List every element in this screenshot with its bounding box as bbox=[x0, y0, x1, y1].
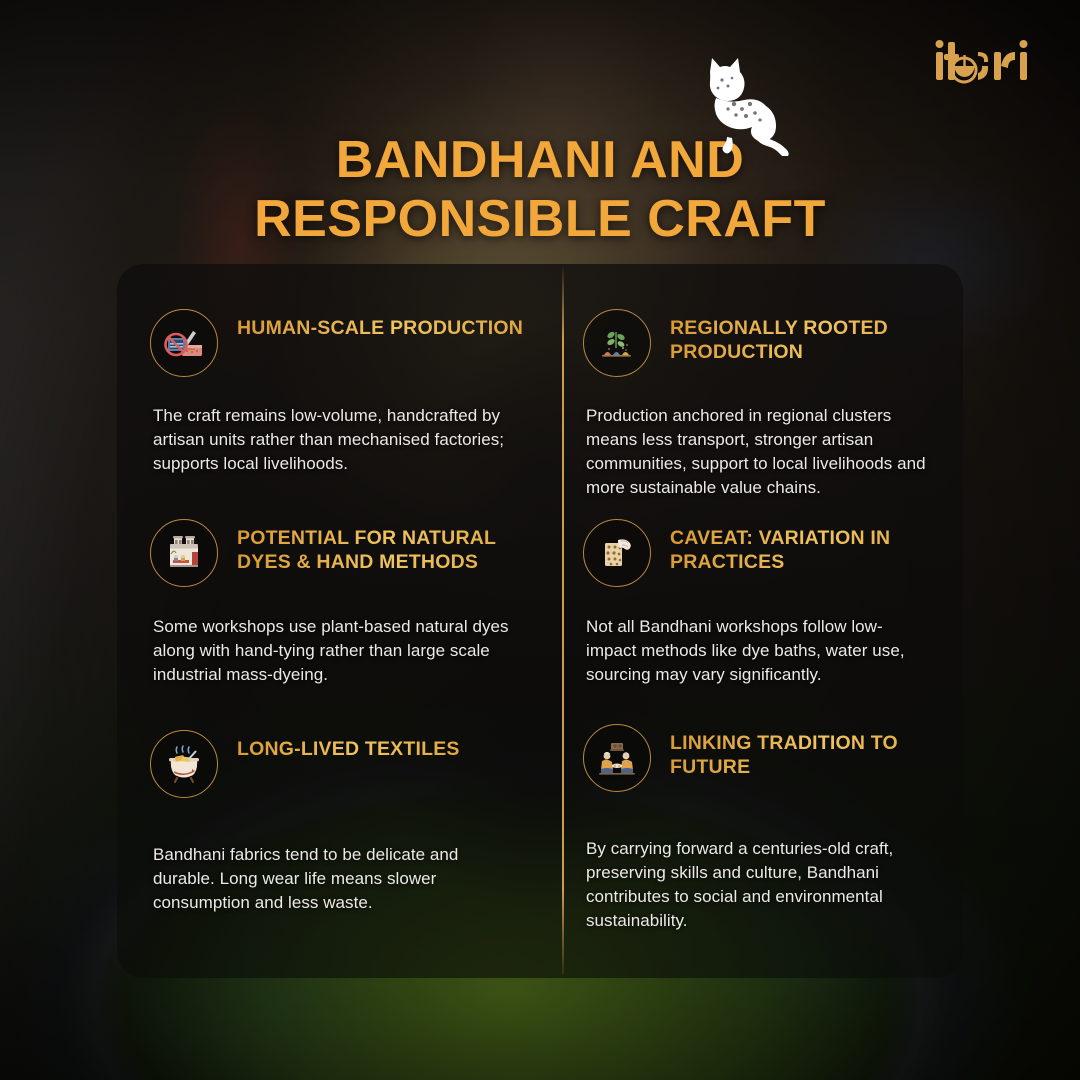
item-heading: CAVEAT: VARIATION IN PRACTICES bbox=[670, 519, 939, 575]
item-heading: REGIONALLY ROOTED PRODUCTION bbox=[670, 309, 939, 365]
item-header: HUMAN-SCALE PRODUCTION bbox=[150, 309, 526, 377]
item-heading: POTENTIAL FOR NATURAL DYES & HAND METHOD… bbox=[237, 519, 526, 575]
item-header: LINKING TRADITION TO FUTURE bbox=[583, 724, 939, 792]
item-header: LONG-LIVED TEXTILES bbox=[150, 730, 526, 798]
item-regionally-rooted-production: REGIONALLY ROOTED PRODUCTION Production … bbox=[554, 264, 963, 471]
item-long-lived-textiles: LONG-LIVED TEXTILES Bandhani fabrics ten… bbox=[117, 680, 554, 978]
steaming-dye-pot-icon bbox=[150, 730, 218, 798]
seedling-sprout-icon bbox=[583, 309, 651, 377]
item-body: Not all Bandhani workshops follow low-im… bbox=[583, 615, 939, 687]
no-factory-machine-icon bbox=[150, 309, 218, 377]
column-divider bbox=[562, 268, 564, 974]
title-line-2: RESPONSIBLE CRAFT bbox=[0, 190, 1080, 249]
hand-holding-patterned-fabric-icon bbox=[583, 519, 651, 587]
item-body: By carrying forward a centuries-old craf… bbox=[583, 837, 939, 933]
cat-silhouette-icon bbox=[688, 52, 806, 156]
title-line-1: BANDHANI AND bbox=[336, 131, 745, 189]
item-header: REGIONALLY ROOTED PRODUCTION bbox=[583, 309, 939, 377]
item-body: Bandhani fabrics tend to be delicate and… bbox=[150, 843, 526, 915]
infographic-poster: BANDHANI AND RESPONSIBLE CRAFT bbox=[0, 0, 1080, 1080]
item-header: CAVEAT: VARIATION IN PRACTICES bbox=[583, 519, 939, 587]
item-header: POTENTIAL FOR NATURAL DYES & HAND METHOD… bbox=[150, 519, 526, 587]
item-heading: HUMAN-SCALE PRODUCTION bbox=[237, 309, 523, 341]
item-body: Some workshops use plant-based natural d… bbox=[150, 615, 526, 687]
item-linking-tradition-to-future: LINKING TRADITION TO FUTURE By carrying … bbox=[554, 680, 963, 978]
item-human-scale-production: HUMAN-SCALE PRODUCTION The craft remains… bbox=[117, 264, 554, 471]
two-artisans-working-icon bbox=[583, 724, 651, 792]
item-heading: LINKING TRADITION TO FUTURE bbox=[670, 724, 939, 780]
page-title: BANDHANI AND RESPONSIBLE CRAFT bbox=[0, 131, 1080, 249]
item-body: The craft remains low-volume, handcrafte… bbox=[150, 404, 526, 476]
itokri-logo[interactable] bbox=[934, 38, 1038, 84]
item-natural-dyes-hand-methods: POTENTIAL FOR NATURAL DYES & HAND METHOD… bbox=[117, 471, 554, 680]
item-heading: LONG-LIVED TEXTILES bbox=[237, 730, 460, 762]
craft-workshop-building-icon bbox=[150, 519, 218, 587]
items-grid: HUMAN-SCALE PRODUCTION The craft remains… bbox=[117, 264, 963, 978]
item-caveat-variation-in-practices: CAVEAT: VARIATION IN PRACTICES Not all B… bbox=[554, 471, 963, 680]
